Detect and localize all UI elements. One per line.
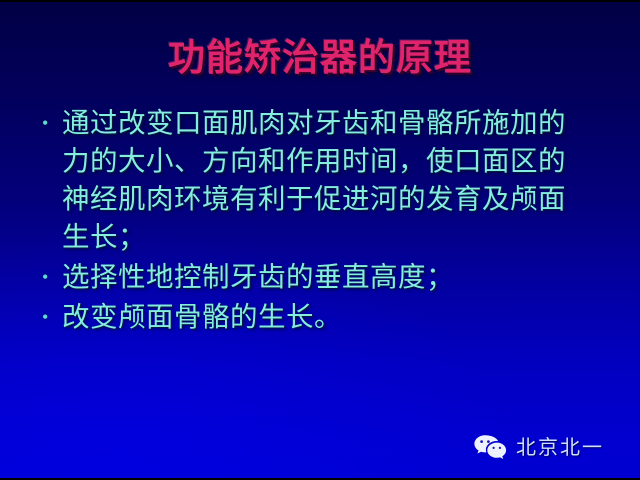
wechat-icon — [473, 434, 507, 462]
bullet-dot-icon: • — [33, 104, 62, 142]
bullet-list: • 通过改变口面肌肉对牙齿和骨骼所施加的 力的大小、方向和作用时间，使口面区的 … — [33, 104, 613, 338]
page-title: 功能矫治器的原理 — [0, 36, 640, 82]
watermark-label: 北京北一 — [516, 437, 604, 459]
list-item-text: 通过改变口面肌肉对牙齿和骨骼所施加的 力的大小、方向和作用时间，使口面区的 神经… — [62, 104, 613, 256]
list-item-text: 改变颅面骨骼的生长。 — [62, 298, 613, 336]
bullet-dot-icon: • — [33, 258, 62, 296]
list-item: • 通过改变口面肌肉对牙齿和骨骼所施加的 力的大小、方向和作用时间，使口面区的 … — [33, 104, 613, 256]
presentation-slide: 功能矫治器的原理 • 通过改变口面肌肉对牙齿和骨骼所施加的 力的大小、方向和作用… — [0, 0, 640, 480]
bullet-dot-icon: • — [33, 298, 62, 336]
list-item-text: 选择性地控制牙齿的垂直高度； — [62, 258, 613, 296]
watermark: 北京北一 — [473, 434, 604, 462]
list-item: • 选择性地控制牙齿的垂直高度； — [33, 258, 613, 296]
list-item: • 改变颅面骨骼的生长。 — [33, 298, 613, 336]
